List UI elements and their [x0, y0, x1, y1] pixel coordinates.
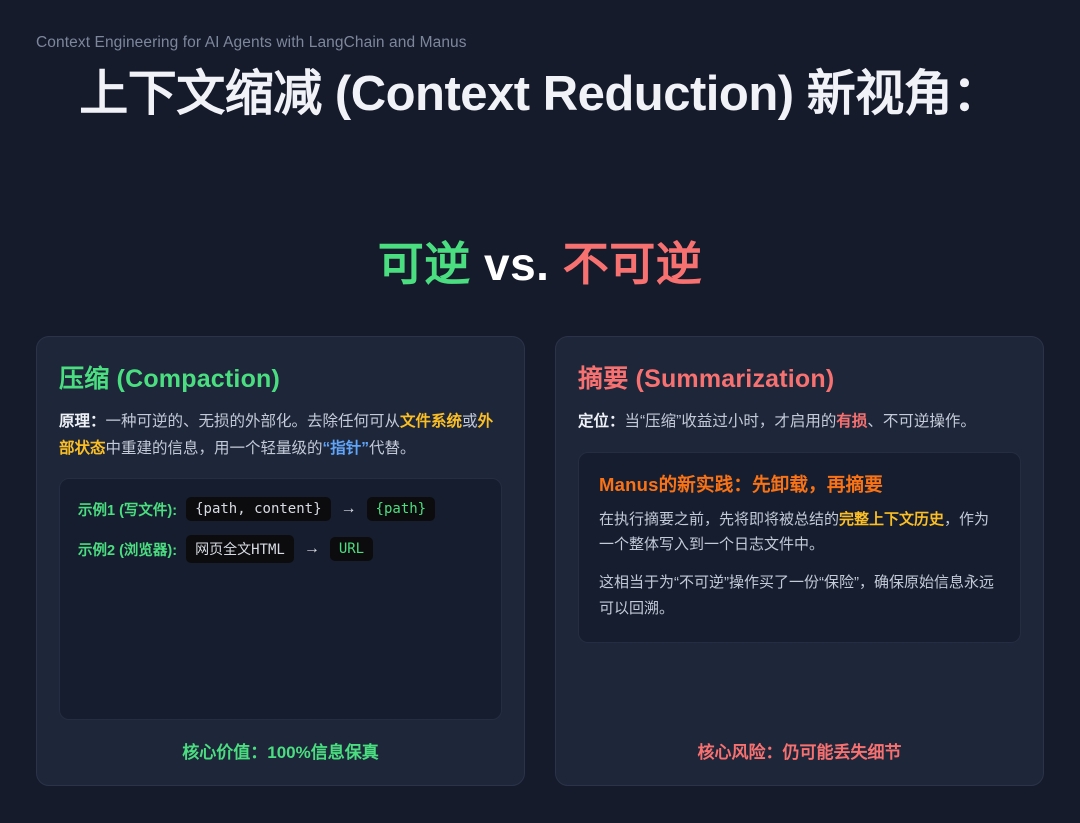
highlight-full-context-history: 完整上下文历史	[839, 511, 944, 528]
cards-container: 压缩 (Compaction) 原理：一种可逆的、无损的外部化。去除任何可从文件…	[36, 336, 1044, 786]
subtitle-vs: vs.	[484, 238, 549, 290]
subtitle-irreversible: 不可逆	[563, 238, 703, 290]
card-compaction-footer: 核心价值：100%信息保真	[59, 720, 502, 785]
manus-practice-heading: Manus的新实践：先卸载，再摘要	[599, 471, 1000, 497]
card-compaction-body-seg2: 或	[462, 413, 478, 430]
card-summarization-body-seg1: 当“压缩”收益过小时，才启用的	[625, 413, 837, 430]
highlight-filesystem: 文件系统	[400, 413, 462, 430]
slide-root: Context Engineering for AI Agents with L…	[0, 0, 1080, 823]
card-compaction-body-seg3: 中重建的信息，用一个轻量级的	[106, 440, 323, 457]
manus-para1-seg1: 在执行摘要之前，先将即将被总结的	[599, 511, 839, 528]
card-compaction-body-label: 原理：	[59, 413, 106, 430]
example-1-from-chip: {path, content}	[186, 497, 330, 521]
subtitle-line: 可逆 vs. 不可逆	[0, 228, 1080, 294]
example-1-to-chip: {path}	[367, 497, 436, 521]
card-summarization-body-seg2: 、不可逆操作。	[867, 413, 976, 430]
highlight-pointer: “指针”	[323, 440, 370, 457]
subtitle-reversible: 可逆	[378, 238, 471, 290]
card-summarization-body: 定位：当“压缩”收益过小时，才启用的有损、不可逆操作。	[578, 409, 1021, 436]
highlight-lossy: 有损	[836, 413, 867, 430]
arrow-right-icon: →	[303, 540, 321, 558]
arrow-right-icon: →	[340, 500, 358, 518]
manus-practice-panel: Manus的新实践：先卸载，再摘要 在执行摘要之前，先将即将被总结的完整上下文历…	[578, 452, 1021, 643]
example-1-label: 示例1 (写文件):	[78, 499, 177, 520]
card-compaction: 压缩 (Compaction) 原理：一种可逆的、无损的外部化。去除任何可从文件…	[36, 336, 525, 786]
example-row: 示例2 (浏览器): 网页全文HTML → URL	[78, 535, 483, 563]
right-card-spacer	[578, 643, 1021, 720]
example-2-to-chip: URL	[330, 537, 373, 561]
card-summarization: 摘要 (Summarization) 定位：当“压缩”收益过小时，才启用的有损、…	[555, 336, 1044, 786]
card-summarization-body-label: 定位：	[578, 413, 625, 430]
card-summarization-title: 摘要 (Summarization)	[578, 359, 1021, 395]
example-row: 示例1 (写文件): {path, content} → {path}	[78, 497, 483, 521]
page-title: 上下文缩减 (Context Reduction) 新视角：	[48, 62, 1032, 127]
eyebrow-label: Context Engineering for AI Agents with L…	[36, 34, 467, 52]
manus-practice-para-2: 这相当于为“不可逆”操作买了一份“保险”，确保原始信息永远可以回溯。	[599, 570, 1000, 622]
example-2-from-chip: 网页全文HTML	[186, 535, 294, 563]
card-compaction-body-seg4: 代替。	[369, 440, 416, 457]
examples-panel: 示例1 (写文件): {path, content} → {path} 示例2 …	[59, 478, 502, 720]
card-compaction-title: 压缩 (Compaction)	[59, 359, 502, 395]
card-summarization-footer: 核心风险：仍可能丢失细节	[578, 720, 1021, 785]
example-2-label: 示例2 (浏览器):	[78, 539, 177, 560]
card-compaction-body-seg1: 一种可逆的、无损的外部化。去除任何可从	[106, 413, 401, 430]
card-compaction-body: 原理：一种可逆的、无损的外部化。去除任何可从文件系统或外部状态中重建的信息，用一…	[59, 409, 502, 462]
manus-practice-para-1: 在执行摘要之前，先将即将被总结的完整上下文历史，作为一个整体写入到一个日志文件中…	[599, 507, 1000, 559]
